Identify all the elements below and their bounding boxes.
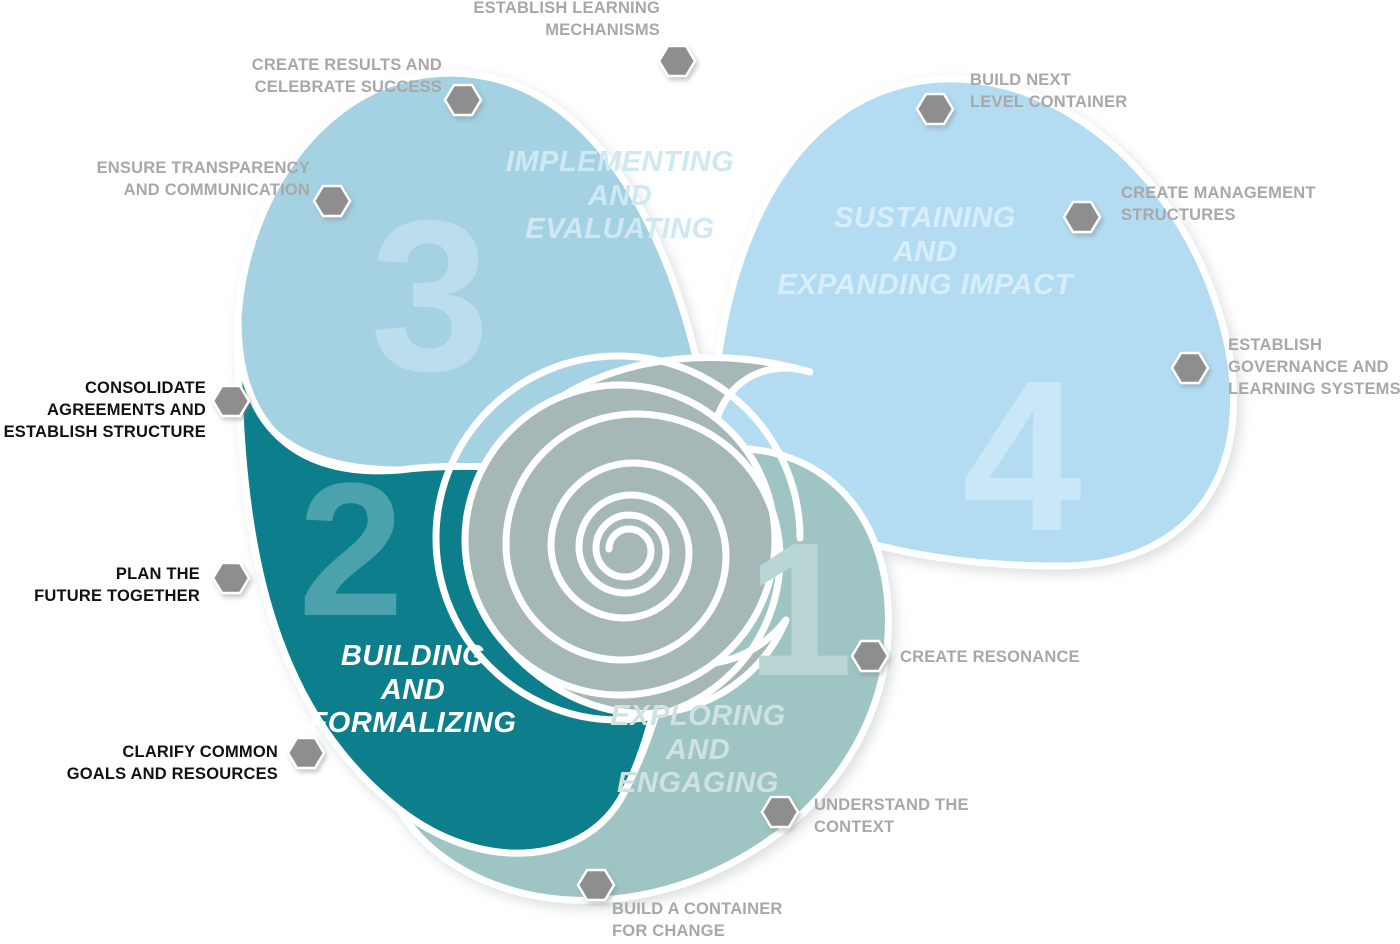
stage-1-title: EXPLORING AND ENGAGING: [608, 700, 788, 801]
hexagon-icon-ensure-transparency[interactable]: [314, 186, 350, 216]
stage-2-title: BUILDING AND FORMALIZING: [283, 640, 543, 741]
hexagon-icon-build-next-level[interactable]: [917, 94, 953, 124]
step-label-establish-governance: ESTABLISH GOVERNANCE AND LEARNING SYSTEM…: [1228, 335, 1400, 400]
stage-2-number: 2: [298, 444, 404, 656]
step-label-build-next-level: BUILD NEXT LEVEL CONTAINER: [970, 70, 1230, 114]
step-label-build-a-container: BUILD A CONTAINER FOR CHANGE: [612, 899, 842, 943]
step-label-create-results: CREATE RESULTS AND CELEBRATE SUCCESS: [180, 55, 442, 99]
step-label-establish-learning: ESTABLISH LEARNING MECHANISMS: [400, 0, 660, 42]
spiral-phase-diagram: 3 4 2 1 IMPLEMENTING AND EVALUATING SUST…: [0, 0, 1400, 944]
step-label-ensure-transparency: ENSURE TRANSPARENCY AND COMMUNICATION: [40, 158, 310, 202]
diagram-canvas: 3 4 2 1: [0, 0, 1400, 944]
hexagon-icon-establish-learning[interactable]: [659, 46, 695, 76]
hexagon-icon-establish-governance[interactable]: [1172, 353, 1208, 383]
stage-3-number: 3: [370, 175, 490, 416]
hexagon-icon-build-a-container[interactable]: [578, 870, 614, 900]
stage-1-number: 1: [747, 504, 853, 716]
step-label-create-resonance: CREATE RESONANCE: [900, 647, 1160, 669]
step-label-clarify-common-goals: CLARIFY COMMON GOALS AND RESOURCES: [34, 742, 278, 786]
step-label-plan-the-future: PLAN THE FUTURE TOGETHER: [0, 564, 200, 608]
hexagon-icon-understand-the-context[interactable]: [762, 797, 798, 827]
stage-4-number: 4: [962, 335, 1082, 576]
hexagon-icon-create-resonance[interactable]: [852, 641, 888, 671]
step-label-create-management: CREATE MANAGEMENT STRUCTURES: [1121, 183, 1391, 227]
hexagon-icon-clarify-common-goals[interactable]: [288, 738, 324, 768]
hexagon-icon-create-results[interactable]: [445, 85, 481, 115]
step-label-understand-the-context: UNDERSTAND THE CONTEXT: [814, 795, 1044, 839]
stage-4-title: SUSTAINING AND EXPANDING IMPACT: [775, 202, 1075, 303]
hexagon-icon-consolidate-agreements[interactable]: [213, 386, 249, 416]
step-label-consolidate-agreements: CONSOLIDATE AGREEMENTS AND ESTABLISH STR…: [0, 378, 206, 443]
stage-3-title: IMPLEMENTING AND EVALUATING: [500, 146, 740, 247]
hexagon-icon-plan-the-future[interactable]: [213, 563, 249, 593]
